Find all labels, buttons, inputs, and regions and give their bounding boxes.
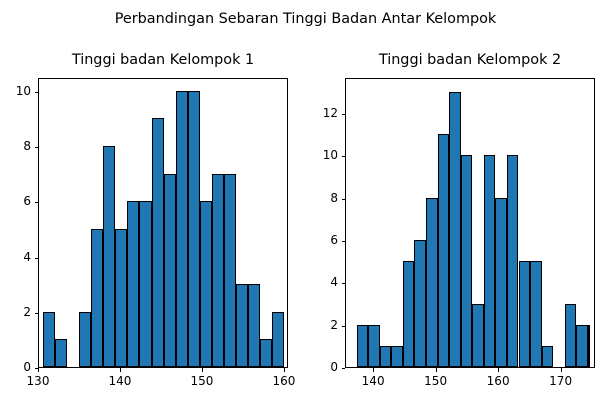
histogram-bar	[164, 174, 176, 367]
y-tick-label: 0	[0, 360, 31, 374]
x-tick-label: 170	[536, 374, 586, 388]
y-tick-mark	[342, 241, 346, 242]
histogram-bar	[484, 155, 496, 367]
histogram-bar	[391, 346, 403, 367]
y-tick-label: 12	[298, 106, 338, 120]
y-tick-label: 2	[298, 318, 338, 332]
subplot-kelompok-2: Tinggi badan Kelompok 2 024681012 140150…	[345, 78, 595, 368]
y-tick-mark	[35, 147, 39, 148]
y-tick-mark	[342, 368, 346, 369]
x-tick-label: 160	[259, 374, 309, 388]
histogram-bar	[414, 240, 426, 367]
x-tick-label: 140	[95, 374, 145, 388]
histogram-bar	[152, 118, 164, 367]
histogram-bar	[212, 174, 224, 367]
histogram-bar	[380, 346, 392, 367]
histogram-bars-left	[39, 79, 287, 367]
y-tick-mark	[35, 258, 39, 259]
y-tick-label: 8	[0, 139, 31, 153]
histogram-bar	[43, 312, 55, 367]
x-tick-mark	[498, 368, 499, 372]
histogram-bar	[461, 155, 473, 367]
histogram-bar	[472, 304, 484, 368]
histogram-bar	[495, 198, 507, 367]
histogram-bar	[200, 201, 212, 367]
x-tick-mark	[373, 368, 374, 372]
x-tick-label: 140	[348, 374, 398, 388]
y-tick-label: 6	[0, 194, 31, 208]
x-tick-mark	[561, 368, 562, 372]
y-tick-mark	[35, 202, 39, 203]
y-tick-label: 6	[298, 233, 338, 247]
y-tick-mark	[35, 313, 39, 314]
y-tick-mark	[342, 114, 346, 115]
histogram-bar	[224, 174, 236, 367]
y-tick-mark	[35, 92, 39, 93]
subplot-kelompok-1: Tinggi badan Kelompok 1 0246810 13014015…	[38, 78, 288, 368]
x-tick-mark	[284, 368, 285, 372]
x-tick-label: 130	[13, 374, 63, 388]
histogram-bar	[357, 325, 369, 367]
histogram-bars-right	[346, 79, 594, 367]
histogram-bar	[542, 346, 554, 367]
histogram-bar	[449, 92, 461, 367]
y-tick-label: 8	[298, 191, 338, 205]
histogram-bar	[588, 325, 590, 367]
histogram-bar	[103, 146, 115, 367]
x-tick-label: 150	[177, 374, 227, 388]
histogram-bar	[438, 134, 450, 367]
histogram-bar	[55, 339, 67, 367]
y-tick-mark	[342, 283, 346, 284]
histogram-bar	[576, 325, 588, 367]
y-tick-label: 4	[298, 275, 338, 289]
histogram-bar	[507, 155, 519, 367]
y-tick-label: 4	[0, 250, 31, 264]
histogram-bar	[127, 201, 139, 367]
figure-suptitle: Perbandingan Sebaran Tinggi Badan Antar …	[0, 11, 611, 27]
y-tick-label: 2	[0, 305, 31, 319]
x-tick-mark	[436, 368, 437, 372]
histogram-bar	[176, 91, 188, 367]
histogram-bar	[91, 229, 103, 367]
x-tick-mark	[120, 368, 121, 372]
histogram-bar	[426, 198, 438, 367]
plot-area-right	[345, 78, 595, 368]
histogram-bar	[139, 201, 151, 367]
subplot-title-left: Tinggi badan Kelompok 1	[38, 52, 288, 68]
histogram-bar	[368, 325, 380, 367]
y-tick-label: 10	[0, 84, 31, 98]
y-tick-mark	[342, 156, 346, 157]
histogram-bar	[115, 229, 127, 367]
x-tick-label: 150	[411, 374, 461, 388]
histogram-bar	[79, 312, 91, 367]
x-tick-mark	[38, 368, 39, 372]
histogram-bar	[236, 284, 248, 367]
subplot-title-right: Tinggi badan Kelompok 2	[345, 52, 595, 68]
histogram-bar	[260, 339, 272, 367]
histogram-bar	[248, 284, 260, 367]
histogram-bar	[519, 261, 531, 367]
histogram-bar	[403, 261, 415, 367]
y-tick-mark	[342, 326, 346, 327]
plot-area-left	[38, 78, 288, 368]
histogram-bar	[188, 91, 200, 367]
histogram-bar	[272, 312, 284, 367]
y-tick-label: 10	[298, 148, 338, 162]
histogram-bar	[565, 304, 577, 368]
figure-canvas: Perbandingan Sebaran Tinggi Badan Antar …	[0, 0, 611, 411]
x-tick-mark	[202, 368, 203, 372]
x-tick-label: 160	[473, 374, 523, 388]
histogram-bar	[530, 261, 542, 367]
y-tick-label: 0	[298, 360, 338, 374]
y-tick-mark	[342, 199, 346, 200]
